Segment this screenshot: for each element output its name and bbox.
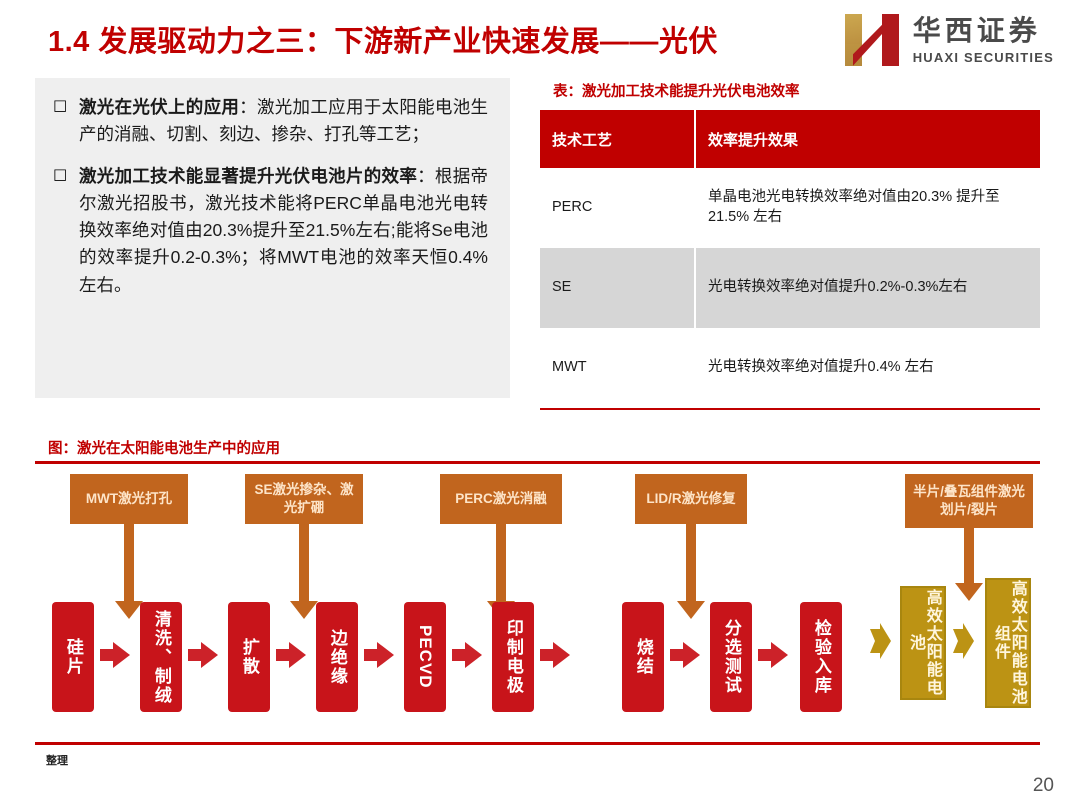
output-box-module: 高效太阳能电池组件 [985,578,1031,708]
cell-process: MWT [540,328,695,409]
footer-divider [35,742,1040,745]
process-box-8: 分选测试 [710,602,752,712]
process-box-1: 硅片 [52,602,94,712]
flow-arrow [364,642,394,668]
bullet-panel: □ 激光在光伏上的应用：激光加工应用于太阳能电池生产的消融、切割、刻边、掺杂、打… [35,78,510,398]
bullet-text: 激光在光伏上的应用：激光加工应用于太阳能电池生产的消融、切割、刻边、掺杂、打孔等… [79,94,488,149]
bullet-lead: 激光加工技术能显著提升光伏电池片的效率 [79,166,417,186]
flow-arrow [670,642,700,668]
cell-effect: 单晶电池光电转换效率绝对值由20.3% 提升至 21.5% 左右 [695,168,1040,248]
process-box-6: 印制电极 [492,602,534,712]
bullet-lead: 激光在光伏上的应用 [79,97,239,117]
bullet-item: □ 激光加工技术能显著提升光伏电池片的效率：根据帝尔激光招股书，激光技术能将PE… [35,149,510,299]
flow-arrow [100,642,130,668]
page-number: 20 [1033,775,1054,797]
page-title: 1.4 发展驱动力之三：下游新产业快速发展——光伏 [48,18,718,60]
cell-effect: 光电转换效率绝对值提升0.2%-0.3%左右 [695,248,1040,328]
logo-h-mark-icon [843,14,901,66]
laser-stem-halfcut [964,528,974,584]
bullet-marker-icon: □ [53,94,79,149]
column-header-effect: 效率提升效果 [695,110,1040,168]
process-box-5: PECVD [404,602,446,712]
huaxi-logo: 华西证券 HUAXI SECURITIES [843,14,1054,66]
laser-label-se: SE激光掺杂、激光扩硼 [245,474,363,524]
process-box-9: 检验入库 [800,602,842,712]
slide: 1.4 发展驱动力之三：下游新产业快速发展——光伏 华西证券 HUAXI SEC… [0,0,1080,807]
flow-arrow [758,642,788,668]
cell-effect: 光电转换效率绝对值提升0.4% 左右 [695,328,1040,409]
table-caption: 表：激光加工技术能提升光伏电池效率 [553,80,800,101]
laser-label-halfcut: 半片/叠瓦组件激光划片/裂片 [905,474,1033,528]
laser-stem-mwt [124,524,134,602]
laser-label-perc: PERC激光消融 [440,474,562,524]
table-row: PERC 单晶电池光电转换效率绝对值由20.3% 提升至 21.5% 左右 [540,168,1040,248]
process-box-7: 烧结 [622,602,664,712]
bullet-marker-icon: □ [53,163,79,299]
gold-arrow [953,621,975,661]
bullet-item: □ 激光在光伏上的应用：激光加工应用于太阳能电池生产的消融、切割、刻边、掺杂、打… [35,78,510,149]
process-label: PECVD [416,625,434,689]
laser-label-lidr: LID/R激光修复 [635,474,747,524]
figure-divider [35,461,1040,464]
cell-process: SE [540,248,695,328]
laser-label-mwt: MWT激光打孔 [70,474,188,524]
logo-name-cn: 华西证券 [913,17,1054,45]
bullet-text: 激光加工技术能显著提升光伏电池片的效率：根据帝尔激光招股书，激光技术能将PERC… [79,163,488,299]
footer-note: 整理 [46,752,68,768]
output-label: 高效太阳能电池组件 [991,580,1025,706]
table-row: MWT 光电转换效率绝对值提升0.4% 左右 [540,328,1040,409]
laser-stem-perc [496,524,506,602]
process-label: 印制电极 [504,619,522,695]
flow-arrow [276,642,306,668]
process-label: 烧结 [634,638,652,676]
process-box-3: 扩散 [228,602,270,712]
process-label: 硅片 [64,638,82,676]
table-row: SE 光电转换效率绝对值提升0.2%-0.3%左右 [540,248,1040,328]
flow-arrow [540,642,570,668]
figure-caption: 图：激光在太阳能电池生产中的应用 [48,437,280,458]
process-box-4: 边绝缘 [316,602,358,712]
process-label: 扩散 [240,638,258,676]
column-header-process: 技术工艺 [540,110,695,168]
cell-process: PERC [540,168,695,248]
process-label: 清洗、制绒 [152,610,170,705]
flow-arrow [188,642,218,668]
gold-arrow [870,621,892,661]
laser-stem-se [299,524,309,602]
output-box-cell: 高效太阳能电池 [900,586,946,700]
output-label: 高效太阳能电池 [906,588,940,698]
process-label: 检验入库 [812,619,830,695]
flowchart: MWT激光打孔 SE激光掺杂、激光扩硼 PERC激光消融 LID/R激光修复 半… [0,466,1080,731]
process-box-2: 清洗、制绒 [140,602,182,712]
process-label: 分选测试 [722,619,740,695]
laser-stem-lidr [686,524,696,602]
efficiency-table: 技术工艺 效率提升效果 PERC 单晶电池光电转换效率绝对值由20.3% 提升至… [540,110,1040,410]
table-header-row: 技术工艺 效率提升效果 [540,110,1040,168]
process-label: 边绝缘 [328,629,346,686]
flow-arrow [452,642,482,668]
logo-name-en: HUAXI SECURITIES [913,51,1054,64]
